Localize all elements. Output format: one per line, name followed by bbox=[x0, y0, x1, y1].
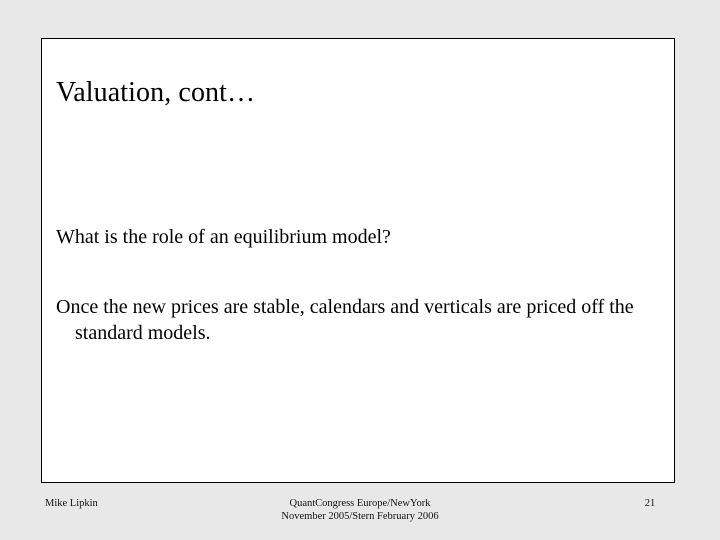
footer-author: Mike Lipkin bbox=[45, 497, 98, 510]
slide-body: What is the role of an equilibrium model… bbox=[56, 224, 638, 346]
footer-event-line-2: November 2005/Stern February 2006 bbox=[180, 510, 540, 523]
body-paragraph-question: What is the role of an equilibrium model… bbox=[56, 224, 638, 250]
presentation-slide: Valuation, cont… What is the role of an … bbox=[0, 0, 720, 540]
slide-footer: Mike Lipkin QuantCongress Europe/NewYork… bbox=[0, 484, 720, 540]
footer-page-number: 21 bbox=[600, 497, 700, 510]
footer-event: QuantCongress Europe/NewYork November 20… bbox=[180, 497, 540, 523]
slide-canvas: Valuation, cont… What is the role of an … bbox=[41, 38, 675, 483]
slide-title: Valuation, cont… bbox=[56, 77, 636, 109]
footer-event-line-1: QuantCongress Europe/NewYork bbox=[180, 497, 540, 510]
body-paragraph-statement: Once the new prices are stable, calendar… bbox=[56, 294, 638, 346]
